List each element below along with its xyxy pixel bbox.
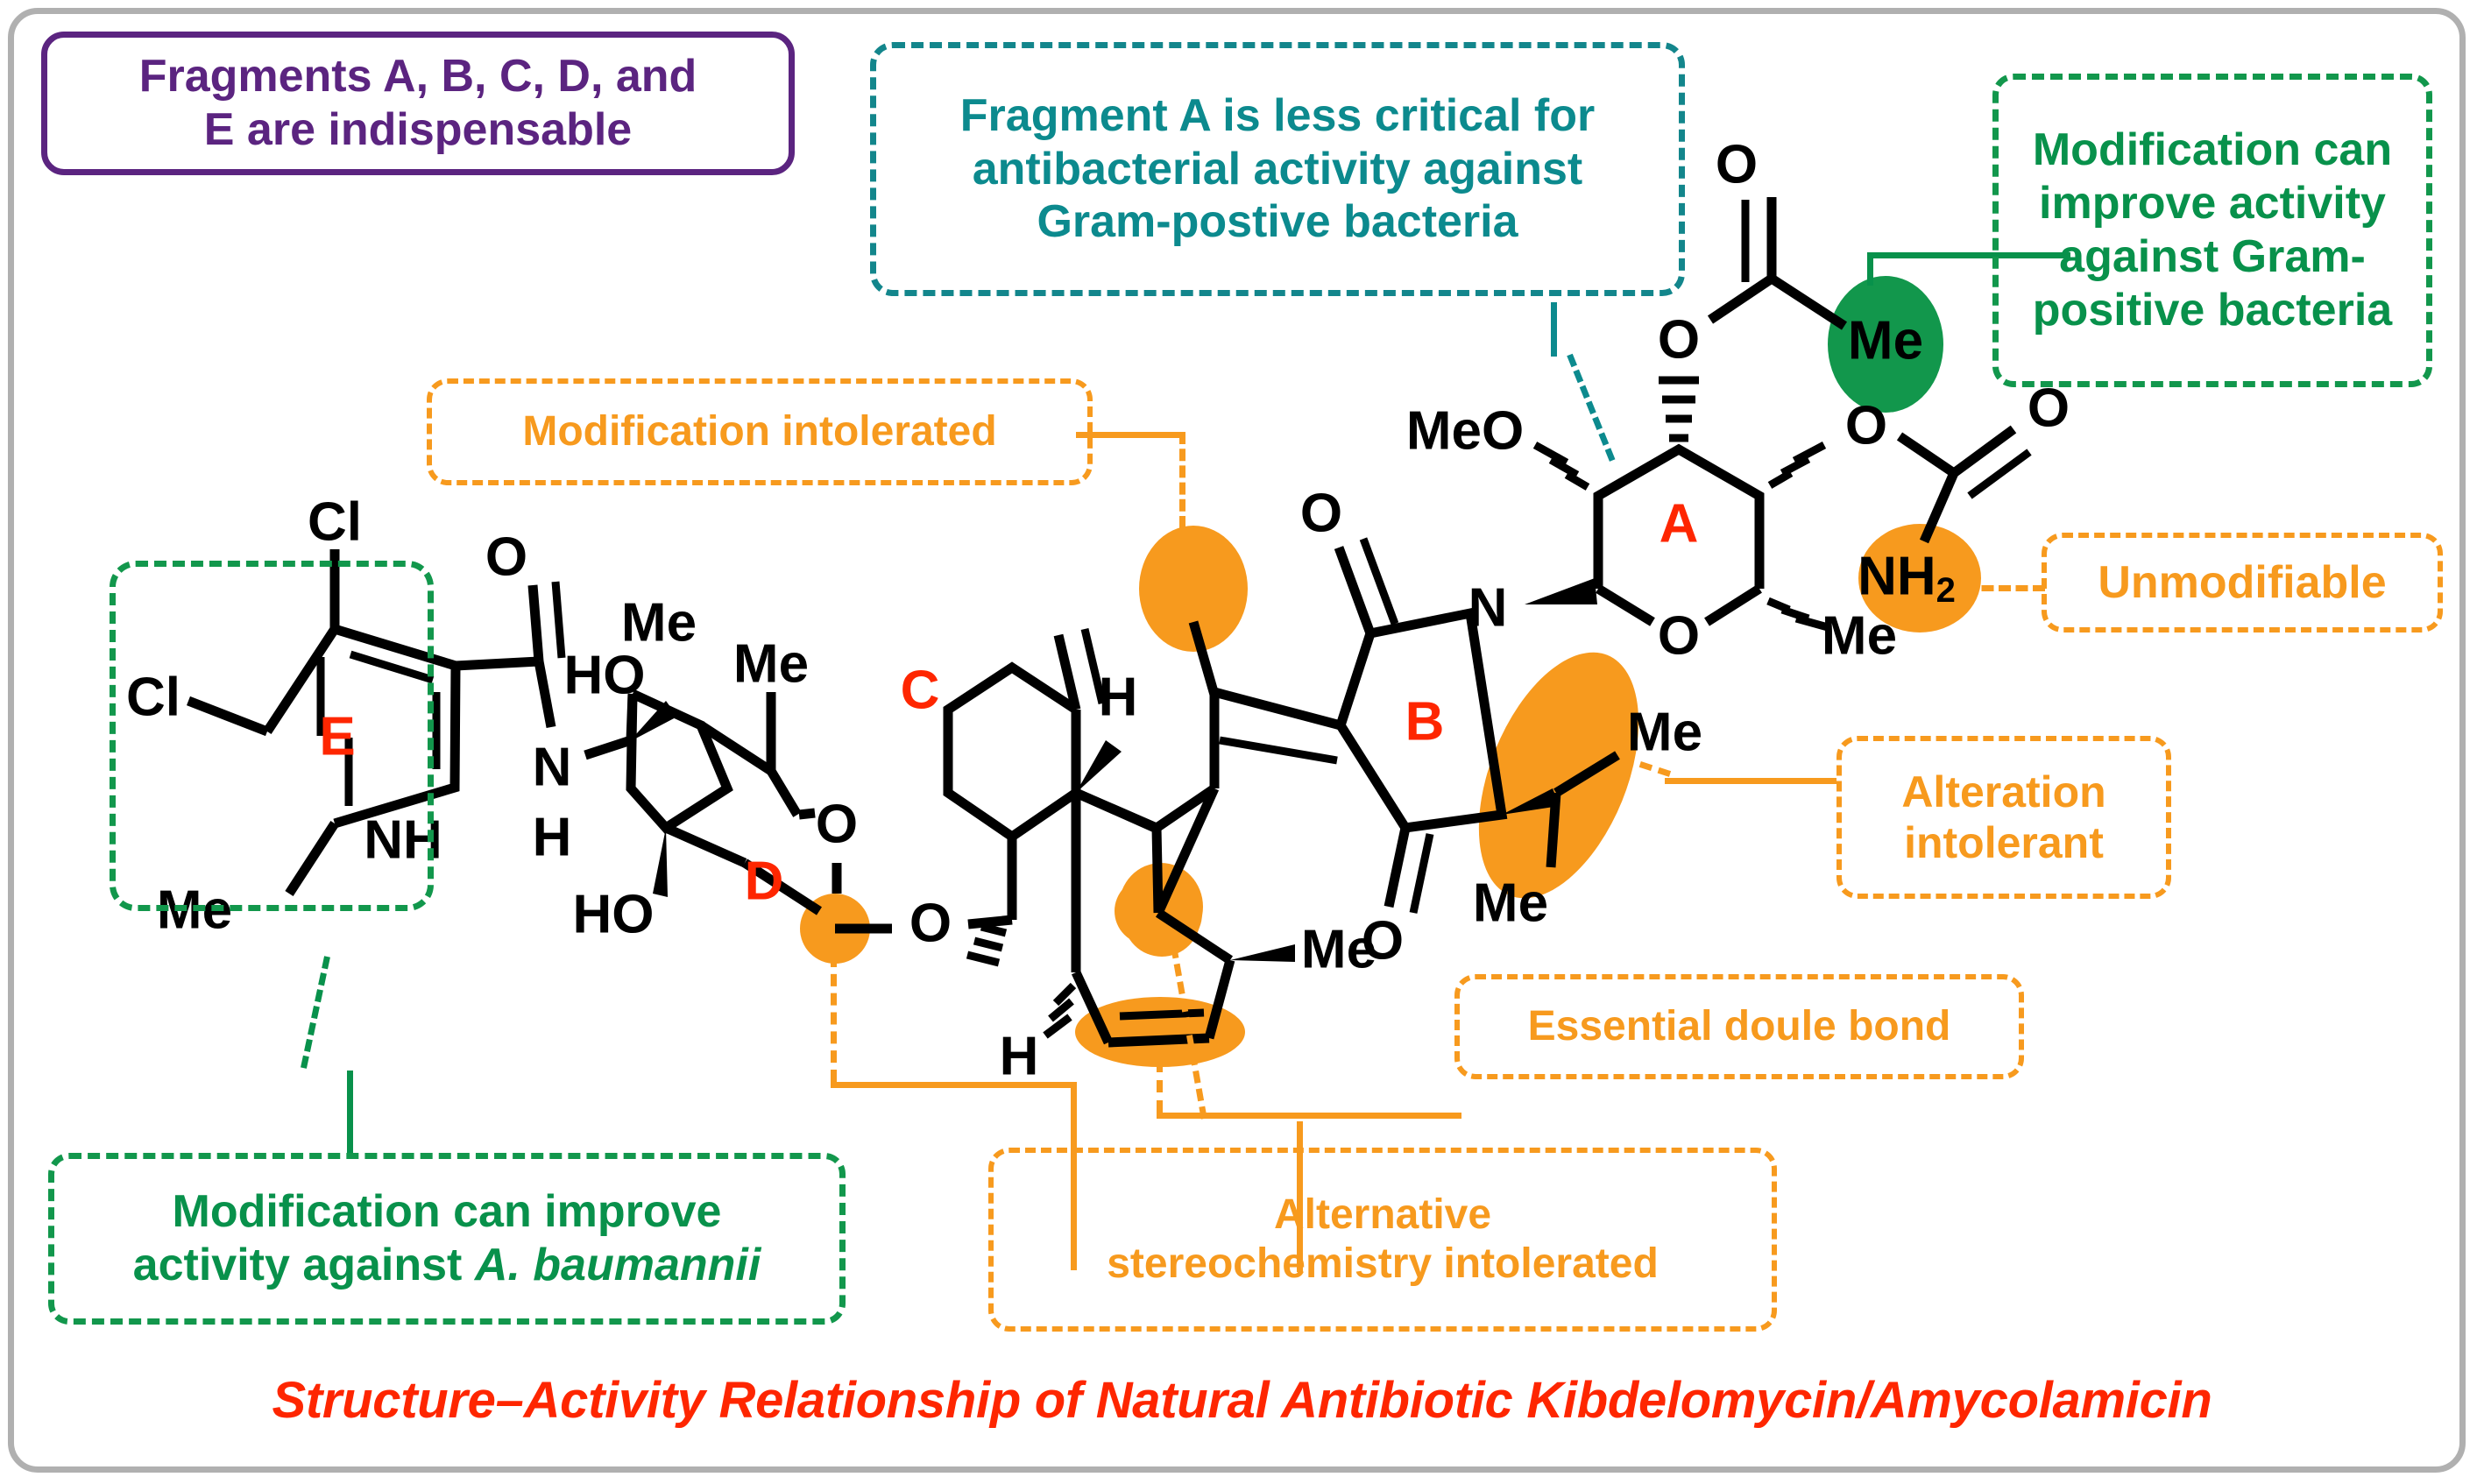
orange-alter-line-2: intolerant xyxy=(1904,818,2104,867)
green-bl-line-2-italic: A. baumannii xyxy=(475,1240,761,1290)
callout-unmodifiable[interactable]: Unmodifiable xyxy=(2042,533,2443,632)
atom-label-o-acetate-ester: O xyxy=(1658,309,1700,370)
orange-alter-line-1: Alteration xyxy=(1901,767,2105,816)
callout-fragment-a-less-critical[interactable]: Fragment A is less critical for antibact… xyxy=(870,42,1685,296)
callout-alter-text: Alteration intolerant xyxy=(1901,767,2105,869)
green-tr-line-2: improve activity xyxy=(2039,178,2386,229)
atom-label-me-ipr-upper: Me xyxy=(1627,702,1702,762)
orange-stereo-line-2: stereochemistry intolerated xyxy=(1107,1240,1659,1287)
callout-alternative-stereochemistry[interactable]: Alternative stereochemistry intolerated xyxy=(988,1148,1777,1332)
teal-line-2: antibacterial activity against xyxy=(973,144,1583,194)
figure-canvas: Cl Cl Me NH O E N H HO Me Me HO O O D xyxy=(0,0,2484,1484)
callout-alteration-intolerant[interactable]: Alteration intolerant xyxy=(1836,736,2171,899)
fragment-label-b: B xyxy=(1405,691,1445,752)
atom-label-o-carbamate-ester: O xyxy=(1845,395,1887,456)
connector-fragE-vertical xyxy=(347,1071,353,1155)
connector-glyco-horizontal xyxy=(831,1082,1076,1088)
connector-unmod-horizontal xyxy=(1964,585,2045,591)
purple-line-1: Fragments A, B, C, D, and xyxy=(139,51,697,102)
callout-purple-text: Fragments A, B, C, D, and E are indispen… xyxy=(139,50,697,157)
orange-modintol-text: Modification intolerated xyxy=(522,407,996,456)
atom-label-o-amide: O xyxy=(485,526,527,587)
fragment-label-a: A xyxy=(1660,493,1699,554)
green-bl-line-1: Modification can improve xyxy=(173,1186,722,1237)
callout-improve-a-baumannii[interactable]: Modification can improve activity agains… xyxy=(48,1153,846,1325)
connector-modintol-vertical xyxy=(1179,432,1185,528)
atom-label-me-d-ring: Me xyxy=(733,633,809,694)
callout-improve-gram-positive[interactable]: Modification can improve activity agains… xyxy=(1992,74,2432,387)
atom-label-o-glycosidic: O xyxy=(909,893,952,953)
green-tr-line-4: positive bacteria xyxy=(2033,285,2392,336)
orange-unmod-text: Unmodifiable xyxy=(2098,556,2386,610)
atom-label-cl-top: Cl xyxy=(308,491,362,552)
purple-line-2: E are indispensable xyxy=(204,104,632,155)
atom-label-o-d-ring: O xyxy=(816,794,858,854)
callout-green-bl-text: Modification can improve activity agains… xyxy=(133,1185,761,1292)
connector-glyco-dashed xyxy=(831,955,837,1082)
orange-stereo-line-1: Alternative xyxy=(1274,1191,1491,1238)
figure-title: Structure–Activity Relationship of Natur… xyxy=(0,1371,2484,1430)
green-tr-line-1: Modification can xyxy=(2033,124,2392,175)
atom-label-h-ringfusion: H xyxy=(1099,667,1138,727)
fragment-e-outline xyxy=(110,561,434,911)
callout-essential-double-bond[interactable]: Essential doule bond xyxy=(1454,974,2024,1079)
atom-label-o-acetate-carbonyl: O xyxy=(1716,134,1758,194)
callout-green-tr-text: Modification can improve activity agains… xyxy=(2033,124,2392,336)
green-tr-line-3: against Gram- xyxy=(2059,231,2366,282)
atom-label-o-b-top: O xyxy=(1300,483,1342,543)
callout-teal-text: Fragment A is less critical for antibact… xyxy=(960,89,1595,249)
atom-label-o-a-ring: O xyxy=(1658,605,1700,666)
atom-label-me-a-ring: Me xyxy=(1822,605,1897,666)
connector-alter-horizontal xyxy=(1665,778,1836,784)
teal-line-1: Fragment A is less critical for xyxy=(960,90,1595,141)
atom-label-meo: MeO xyxy=(1406,400,1524,461)
atom-label-h-amide: H xyxy=(533,807,572,867)
atom-label-me-ipr-lower: Me xyxy=(1473,873,1548,933)
atom-label-h-lower: H xyxy=(1000,1026,1039,1086)
fragment-label-d: D xyxy=(745,851,784,911)
atom-label-me-acetate: Me xyxy=(1848,310,1923,371)
callout-stereo-text: Alternative stereochemistry intolerated xyxy=(1107,1191,1659,1289)
fragment-label-c: C xyxy=(901,660,940,720)
callout-modification-intolerated[interactable]: Modification intolerated xyxy=(427,378,1093,485)
atom-label-o-b-bottom: O xyxy=(1362,910,1404,971)
green-bl-line-2-plain: activity against xyxy=(133,1240,475,1290)
connector-green-vertical xyxy=(1867,252,1873,286)
orange-dbond-text: Essential doule bond xyxy=(1528,1002,1951,1051)
connector-dbond-vertical xyxy=(1157,1060,1163,1113)
atom-label-n-b-ring: N xyxy=(1468,577,1508,638)
atom-label-n-amide: N xyxy=(533,737,572,797)
callout-fragments-indispensable[interactable]: Fragments A, B, C, D, and E are indispen… xyxy=(41,32,795,175)
atom-label-me-d-top: Me xyxy=(621,592,697,653)
teal-line-3: Gram-postive bacteria xyxy=(1037,196,1518,247)
atom-label-ho-d-bottom: HO xyxy=(573,884,655,944)
connector-teal-vertical xyxy=(1551,302,1557,357)
